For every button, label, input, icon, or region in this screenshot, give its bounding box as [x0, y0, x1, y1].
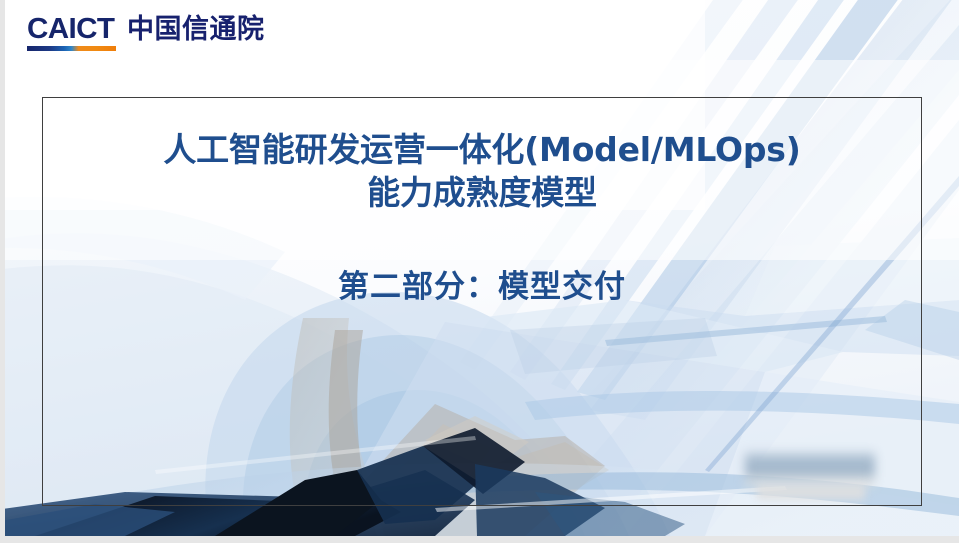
- title-line-2: 能力成熟度模型: [42, 171, 922, 214]
- caict-logo: CAICT 中国信通院: [27, 14, 265, 54]
- left-margin-band: [0, 0, 5, 543]
- subtitle-text: 第二部分：模型交付: [42, 266, 922, 308]
- title-line-1: 人工智能研发运营一体化(Model/MLOps): [42, 128, 922, 171]
- bottom-margin-band: [0, 536, 959, 543]
- logo-mark: CAICT: [27, 14, 116, 51]
- slide-subtitle: 第二部分：模型交付: [42, 266, 922, 308]
- logo-acronym-text: CAICT: [27, 14, 118, 44]
- slide-canvas: CAICT 中国信通院 人工智能研发运营一体化(Model/MLOps) 能力成…: [5, 0, 959, 536]
- logo-underline-bar: [27, 46, 116, 51]
- slide-title: 人工智能研发运营一体化(Model/MLOps) 能力成熟度模型: [42, 128, 922, 214]
- logo-chinese-name: 中国信通院: [127, 14, 265, 45]
